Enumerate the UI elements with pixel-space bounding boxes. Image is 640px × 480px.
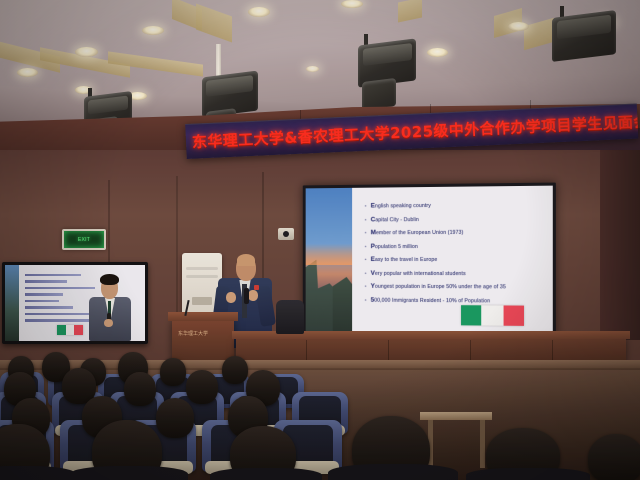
tv-presenter xyxy=(87,271,133,341)
flag-stripe-orange xyxy=(503,305,524,325)
tv-screen xyxy=(5,265,145,341)
audience-head xyxy=(186,370,218,404)
desk-seam xyxy=(470,340,471,362)
slide-text-panel: English speaking country Capital City - … xyxy=(352,186,553,339)
audience-head xyxy=(588,434,640,480)
tv-bullet xyxy=(25,300,59,302)
tv-bullet xyxy=(25,306,73,308)
tv-bullet xyxy=(25,287,95,289)
slide-bullet: Capital City - Dublin xyxy=(364,216,506,223)
ceiling-speaker xyxy=(552,14,616,58)
lecture-hall-photo: 东华理工大学&香农理工大学2025级中外合作办学项目学生见面会 English … xyxy=(0,0,640,480)
ceiling-speaker xyxy=(358,42,416,84)
audience-shoulder-foreground xyxy=(210,468,322,480)
desk-seam xyxy=(388,340,389,362)
audience-head xyxy=(156,398,194,438)
exit-sign-label: EXIT xyxy=(78,237,90,243)
audience-shoulder-foreground xyxy=(328,464,458,480)
wall-camera-lens xyxy=(283,231,289,237)
flag-stripe-white xyxy=(482,305,503,325)
audience-shoulder-foreground xyxy=(70,466,188,480)
slide-bullet: Member of the European Union (1973) xyxy=(364,230,506,237)
ac-display xyxy=(192,297,213,305)
slide-bullet: 500,000 Immigrants Resident - 10% of Pop… xyxy=(364,297,506,304)
projection-screen: English speaking country Capital City - … xyxy=(306,186,553,339)
tv-bullet xyxy=(25,293,63,295)
podium-nameplate: 东华理工大学 xyxy=(178,330,208,337)
tv-irish-flag xyxy=(57,325,83,335)
downlight xyxy=(306,66,319,72)
downlight xyxy=(142,26,164,35)
tv-bullet xyxy=(25,274,81,276)
ceiling-speaker-sub xyxy=(362,80,396,108)
slide-bullet: Easy to the travel in Europe xyxy=(364,257,506,263)
slide-bullet-list: English speaking country Capital City - … xyxy=(364,202,506,311)
irish-flag xyxy=(461,305,524,326)
exit-sign: EXIT xyxy=(62,229,106,250)
side-table-leg xyxy=(480,420,485,468)
slide-bullet: Very popular with international students xyxy=(364,270,506,277)
slide-bullet: English speaking country xyxy=(364,202,506,210)
presenter-microphone xyxy=(244,288,249,304)
flag-stripe-white xyxy=(66,325,75,335)
stage-desk xyxy=(236,336,626,362)
slide-bullet: Youngest population in Europe 50% under … xyxy=(364,284,506,291)
desk-seam xyxy=(552,340,553,362)
audience-head xyxy=(222,356,248,384)
flag-stripe-orange xyxy=(74,325,83,335)
audience-shoulder-foreground xyxy=(466,468,590,480)
downlight xyxy=(427,48,448,57)
downlight xyxy=(341,0,363,8)
audience-head xyxy=(124,372,156,406)
tv-photo xyxy=(5,265,19,341)
right-pillar xyxy=(600,150,640,340)
exit-sign-face: EXIT xyxy=(64,231,104,248)
audience-shoulder-foreground xyxy=(0,466,76,480)
sunset-glow xyxy=(306,243,352,265)
slide-photo xyxy=(306,188,352,336)
desk-seam xyxy=(306,340,307,362)
podium-top xyxy=(168,312,238,321)
presenter-hand-left xyxy=(226,292,236,303)
tv-presenter-hand xyxy=(104,319,113,327)
presenter-lapel-badge xyxy=(254,285,259,290)
audience-head xyxy=(160,358,186,386)
slide-bullet: Population 5 million xyxy=(364,243,506,250)
stage-wall-seam xyxy=(176,176,178,331)
downlight xyxy=(75,47,98,57)
flag-stripe-green xyxy=(57,325,66,335)
tv-bullet xyxy=(25,280,67,282)
presenter-hand-right xyxy=(248,290,258,301)
downlight xyxy=(508,22,529,31)
presenter-bald-crown xyxy=(237,254,255,266)
side-table xyxy=(420,412,492,420)
tv-presenter-hair xyxy=(100,274,119,285)
flag-stripe-green xyxy=(461,305,482,325)
office-chair xyxy=(276,300,304,334)
downlight xyxy=(17,68,38,77)
downlight xyxy=(248,7,270,17)
